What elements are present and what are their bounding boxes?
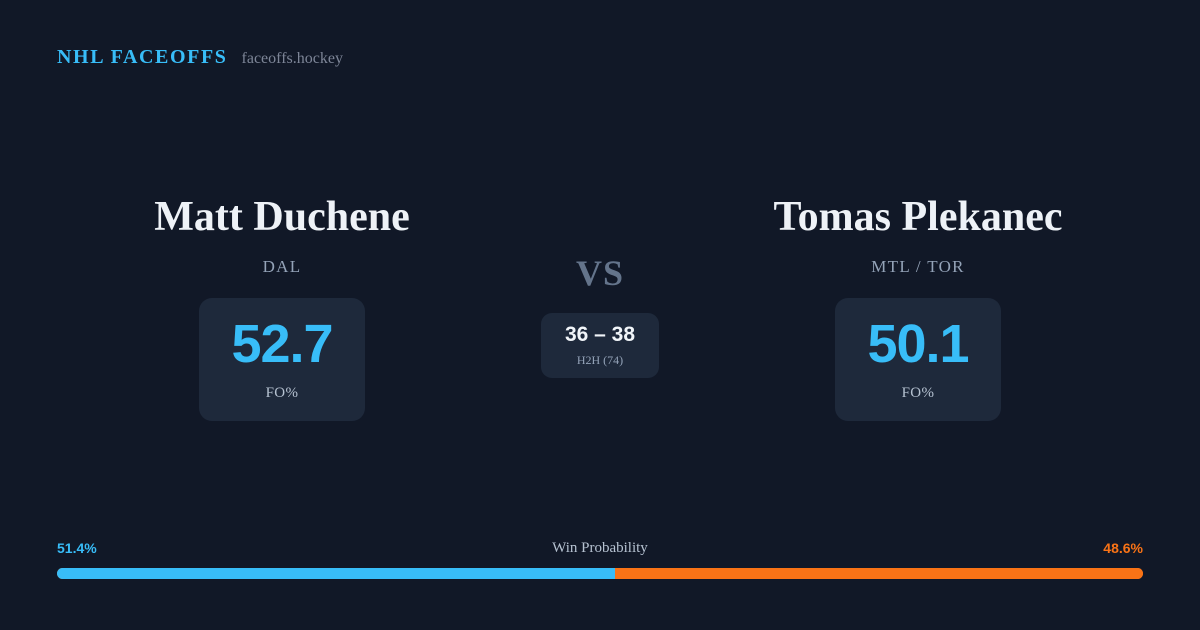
head-to-head-label: H2H (74) bbox=[577, 353, 623, 368]
faceoff-pct-value-left: 52.7 bbox=[231, 317, 332, 371]
win-probability-right-pct: 48.6% bbox=[1103, 540, 1143, 556]
site-tagline: faceoffs.hockey bbox=[242, 50, 343, 68]
player-team-left: DAL bbox=[263, 257, 302, 277]
win-probability-bar bbox=[57, 568, 1143, 579]
faceoff-stat-card-right: 50.1 FO% bbox=[835, 298, 1001, 421]
brand-wordmark[interactable]: NHL FACEOFFS bbox=[57, 46, 228, 69]
win-probability-title: Win Probability bbox=[57, 540, 1143, 557]
site-header: NHL FACEOFFS faceoffs.hockey bbox=[57, 46, 343, 69]
player-card-left[interactable]: Matt Duchene DAL 52.7 FO% bbox=[52, 196, 512, 421]
head-to-head-record: 36 – 38 bbox=[565, 324, 635, 345]
win-probability-bar-right-segment bbox=[615, 568, 1143, 579]
vs-label: VS bbox=[576, 255, 624, 291]
player-name-left: Matt Duchene bbox=[154, 196, 409, 238]
faceoff-pct-label-left: FO% bbox=[266, 385, 299, 402]
player-team-right: MTL / TOR bbox=[871, 257, 965, 277]
player-name-right: Tomas Plekanec bbox=[774, 196, 1063, 238]
faceoff-pct-value-right: 50.1 bbox=[867, 317, 968, 371]
faceoff-pct-label-right: FO% bbox=[902, 385, 935, 402]
win-probability-labels: 51.4% Win Probability 48.6% bbox=[57, 540, 1143, 560]
head-to-head-card: 36 – 38 H2H (74) bbox=[541, 313, 659, 378]
player-card-right[interactable]: Tomas Plekanec MTL / TOR 50.1 FO% bbox=[688, 196, 1148, 421]
win-probability-section: 51.4% Win Probability 48.6% bbox=[57, 540, 1143, 579]
win-probability-bar-left-segment bbox=[57, 568, 615, 579]
faceoff-stat-card-left: 52.7 FO% bbox=[199, 298, 365, 421]
matchup-section: Matt Duchene DAL 52.7 FO% VS 36 – 38 H2H… bbox=[0, 196, 1200, 436]
